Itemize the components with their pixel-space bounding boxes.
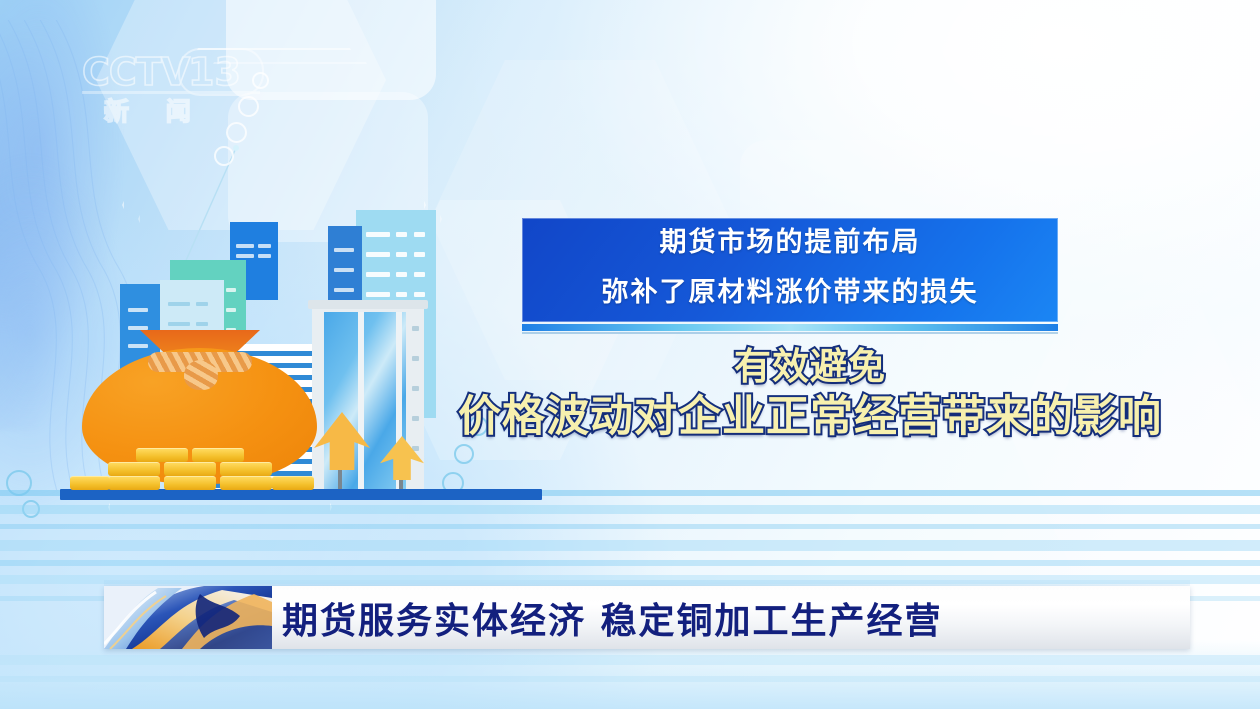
- coin-stack: [220, 476, 272, 490]
- coin-stack: [164, 462, 216, 476]
- coin-stack: [164, 476, 216, 490]
- bottom-news-banner: 期货服务实体经济 稳定铜加工生产经营: [104, 586, 1190, 649]
- rocket-arrow-large: [314, 412, 370, 490]
- logo-channel-number: 13: [188, 50, 241, 94]
- ground-bar-left: [60, 489, 140, 500]
- coin-stack: [136, 448, 188, 462]
- cctv13-news-watermark: CCTV 13 新 闻: [78, 48, 268, 138]
- headline-blue-box: 期货市场的提前布局 弥补了原材料涨价带来的损失: [522, 218, 1058, 322]
- background-stripe-4: [0, 540, 1260, 551]
- coin-stack: [220, 462, 272, 476]
- banner-title: 期货服务实体经济 稳定铜加工生产经营: [282, 586, 943, 649]
- logo-news-text: 新 闻: [104, 92, 205, 128]
- background-stripe-2: [0, 505, 1260, 514]
- subhead-line-2: 价格波动对企业正常经营带来的影响: [430, 390, 1190, 444]
- background-bottom-fade: [0, 640, 1260, 709]
- headline-accent-bar-shadow: [522, 332, 1058, 334]
- headline-line-2: 弥补了原材料涨价带来的损失: [522, 268, 1058, 318]
- coin-stack: [70, 476, 110, 490]
- globe-swoosh-graphic: [104, 586, 272, 649]
- ground-bar-right: [124, 489, 542, 500]
- rocket-arrow-small: [380, 436, 424, 490]
- subhead-block: 有效避免 价格波动对企业正常经营带来的影响: [430, 344, 1190, 444]
- coin-stack: [108, 476, 160, 490]
- background-stripe-5: [0, 560, 1260, 566]
- money-bag-knot: [184, 360, 218, 390]
- broadcast-frame: CCTV 13 新 闻: [0, 0, 1260, 709]
- coin-stack: [192, 448, 244, 462]
- background-stripe-3: [0, 524, 1260, 529]
- coin-stack: [272, 476, 314, 490]
- headline-accent-bar: [522, 324, 1058, 331]
- headline-line-1: 期货市场的提前布局: [522, 218, 1058, 268]
- background-circle-4: [214, 146, 234, 166]
- subhead-line-1: 有效避免: [430, 344, 1190, 390]
- coin-stack: [108, 462, 160, 476]
- logo-cctv-text: CCTV: [82, 50, 189, 94]
